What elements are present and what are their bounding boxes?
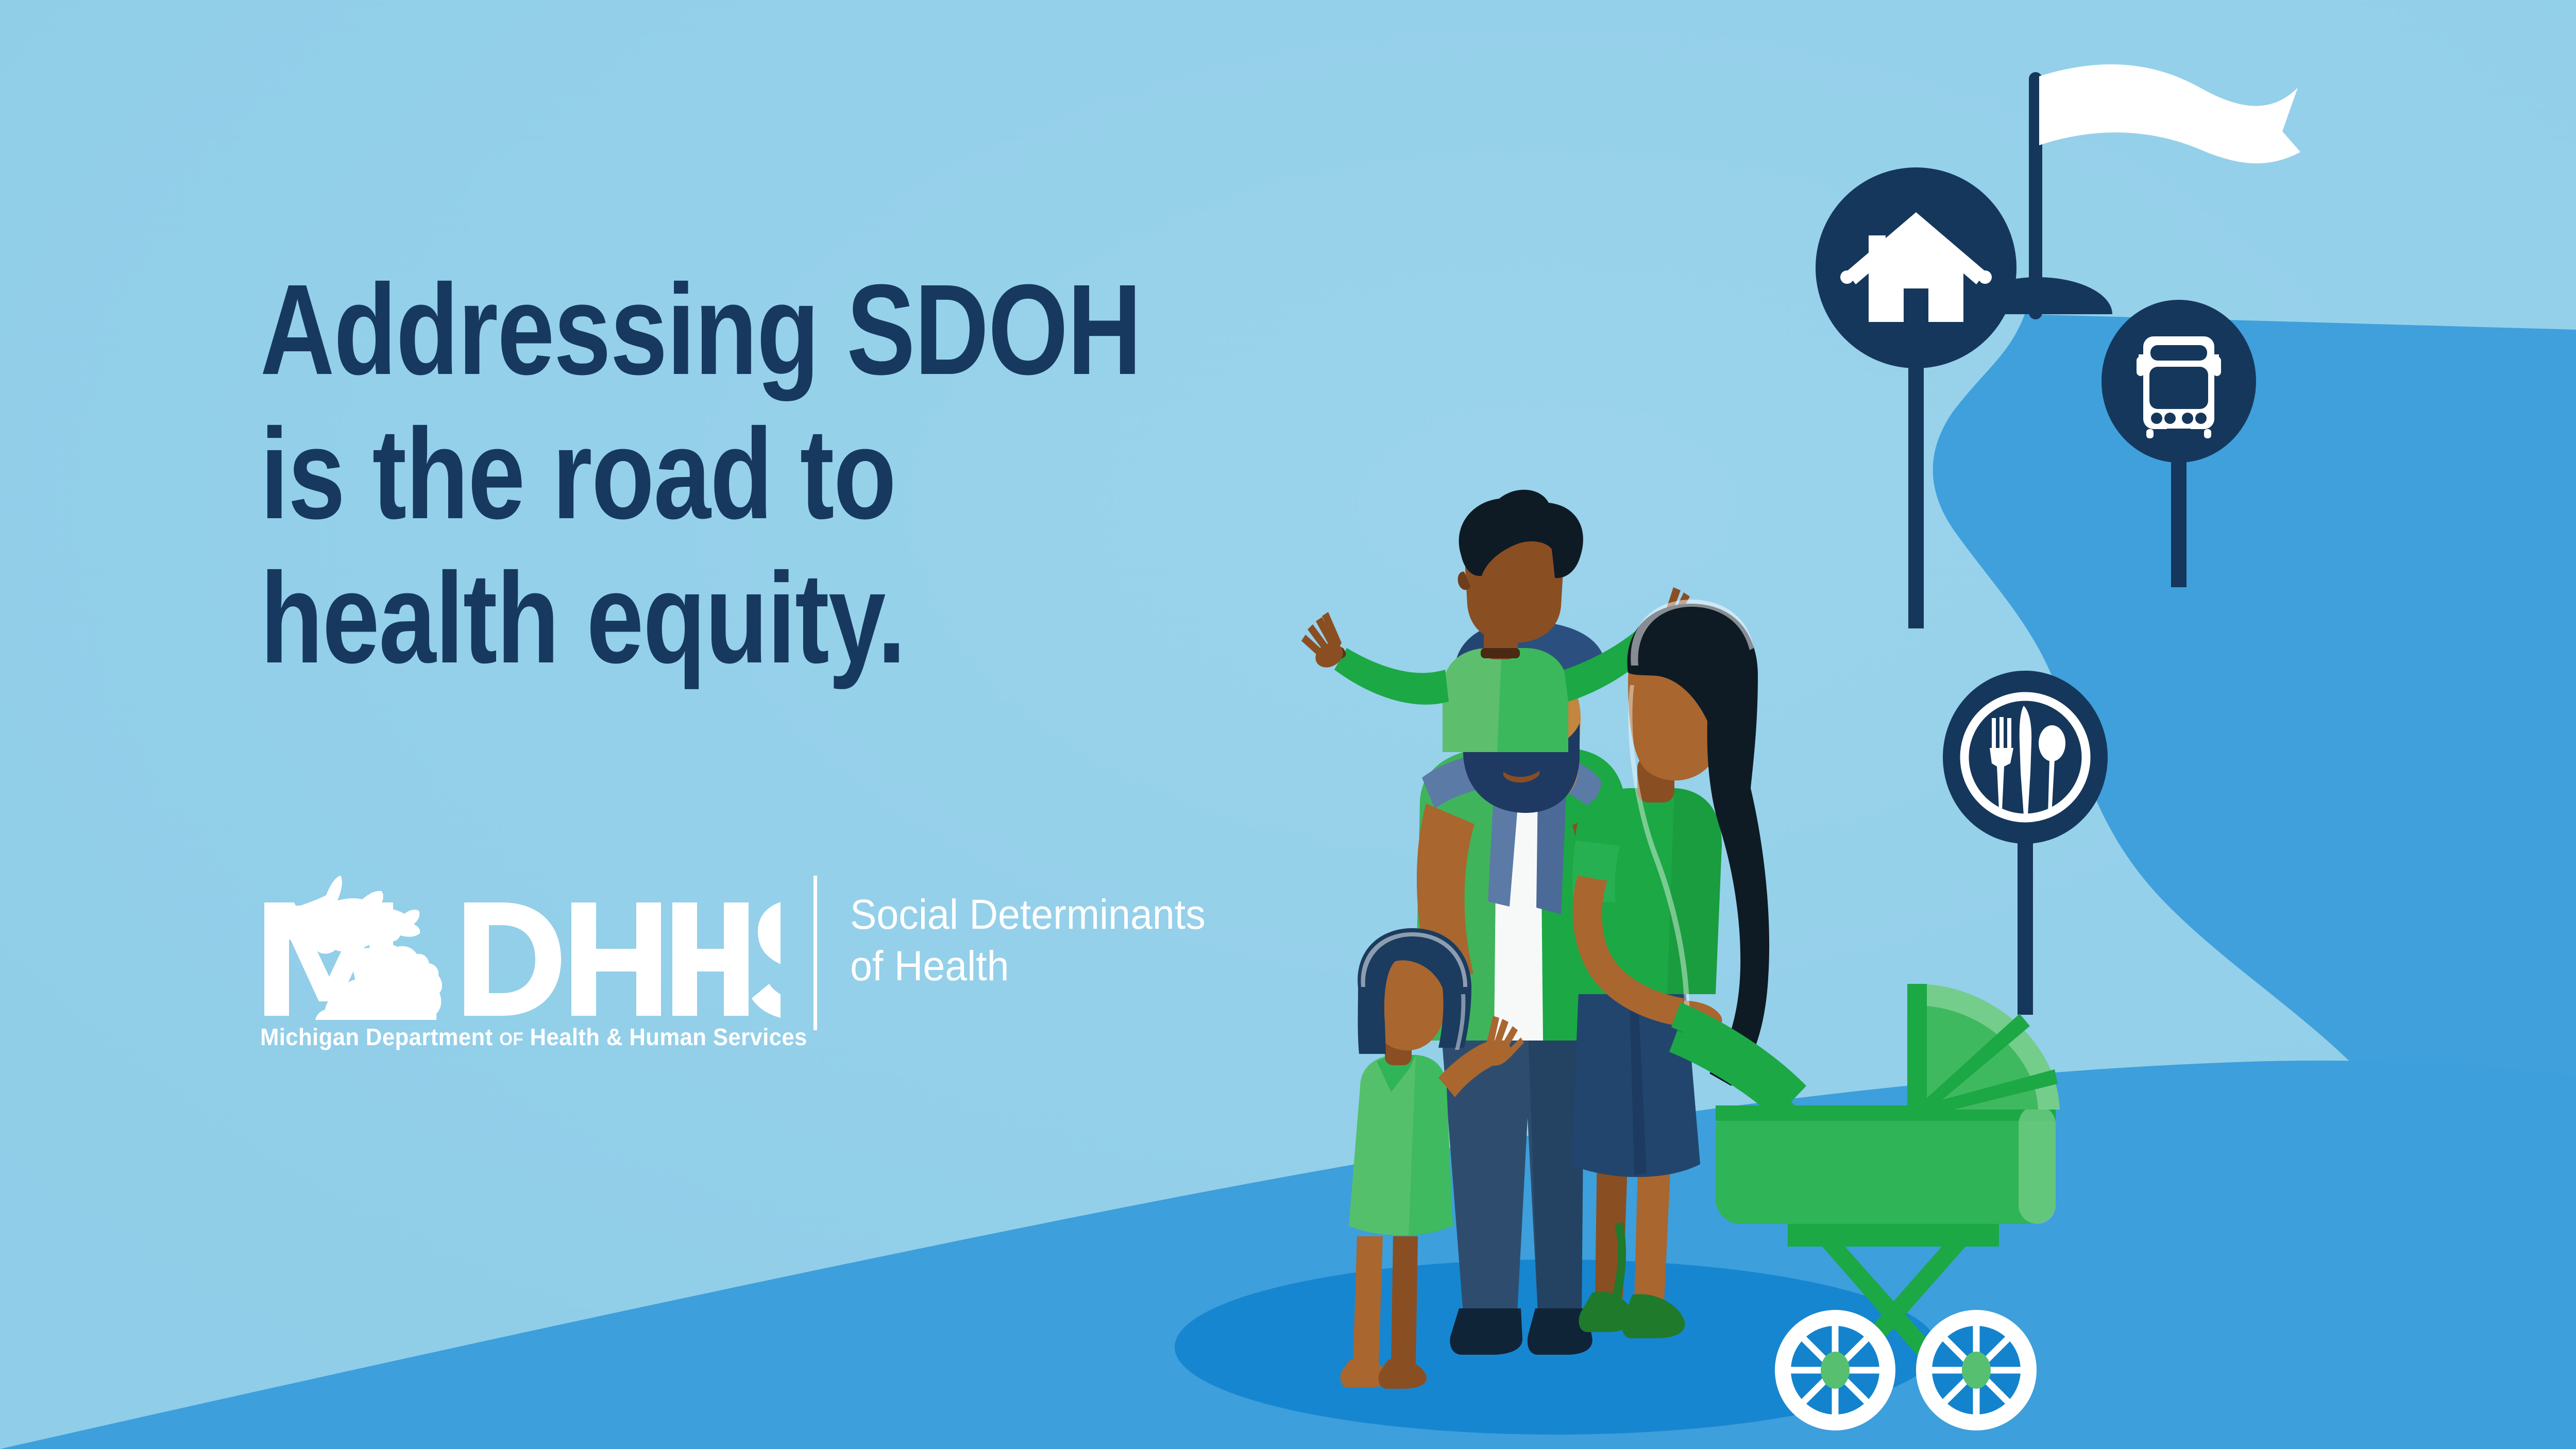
girl-leg-right: [1391, 1236, 1418, 1365]
girl-leg-left: [1353, 1236, 1383, 1365]
logo-subtitle-part1: Michigan Department: [260, 1024, 499, 1050]
mdhhs-logo-left: Michigan Department OF Health & Human Se…: [260, 876, 781, 1051]
illustration-artboard: Addressing SDOH is the road to health eq…: [0, 0, 2576, 1449]
pram-wheel-right: [1917, 1310, 2036, 1430]
father-shoe-left: [1450, 1308, 1522, 1355]
mdhhs-wordmark-svg: [260, 876, 781, 1020]
logo-subtitle-part2: Health & Human Services: [523, 1024, 807, 1050]
pram-basket-highlight: [2019, 1105, 2056, 1224]
bus-icon: [2137, 336, 2221, 438]
poster-canvas: Addressing SDOH is the road to health eq…: [0, 0, 2576, 1449]
logo-subtitle-of: OF: [499, 1029, 523, 1049]
mdhhs-logo-subtitle: Michigan Department OF Health & Human Se…: [260, 1023, 755, 1051]
logo-tagline: Social Determinants of Health: [850, 876, 1206, 992]
child-shirt-left: [1443, 648, 1502, 752]
mdhhs-wordmark: [260, 876, 781, 1020]
pram-hood-rib-left: [1907, 984, 1927, 1110]
logo-divider: [814, 876, 817, 1030]
pram-wheel-left: [1775, 1310, 1895, 1430]
mother-top-shade: [1667, 788, 1722, 994]
page-title: Addressing SDOH is the road to health eq…: [260, 258, 1208, 690]
scene-illustration: [0, 0, 2576, 1449]
pram-basket: [1716, 1105, 2056, 1224]
logo-letters-dhhs: [464, 899, 781, 1020]
mdhhs-logo-lockup: Michigan Department OF Health & Human Se…: [260, 876, 1228, 1051]
child-collar: [1481, 648, 1520, 658]
